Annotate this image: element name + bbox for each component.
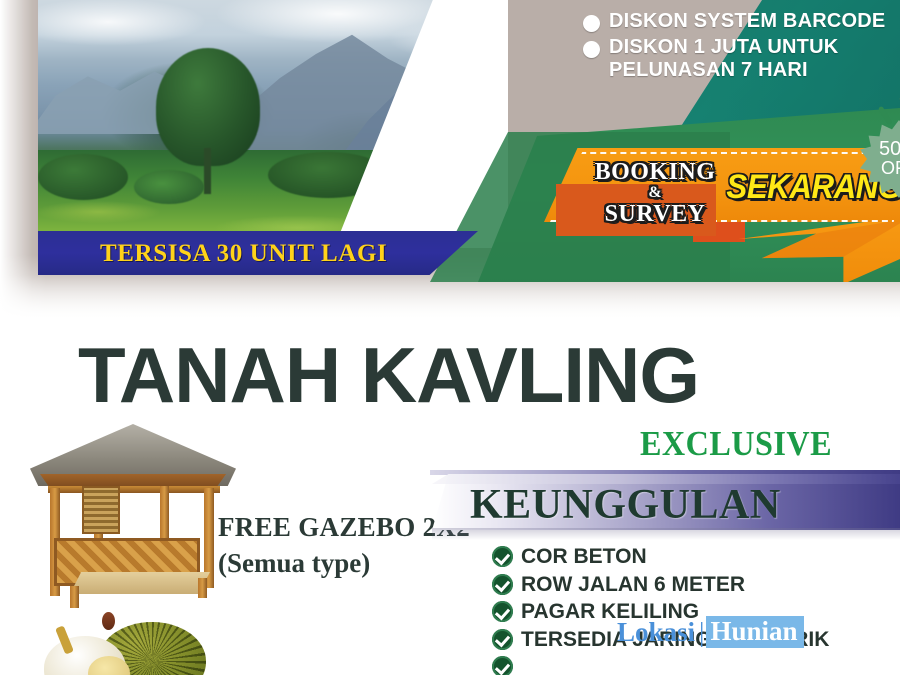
gazebo-type-note: (Semua type) <box>218 548 370 579</box>
watermark-part-lokasi: Lokasi <box>617 617 697 648</box>
booking-survey-text: BOOKING & SURVEY <box>590 160 720 226</box>
bullet-dot-icon <box>583 15 600 32</box>
top-banner: DISKON SYSTEM BARCODE DISKON 1 JUTA UNTU… <box>38 0 900 282</box>
flyer-canvas: DISKON SYSTEM BARCODE DISKON 1 JUTA UNTU… <box>0 0 900 675</box>
gazebo-lattice-panel <box>82 486 120 534</box>
promo-bullet-text: DISKON 1 JUTA UNTUK PELUNASAN 7 HARI <box>609 36 838 81</box>
promo-bullet-item: DISKON 1 JUTA UNTUK PELUNASAN 7 HARI <box>583 36 900 81</box>
durian-seed <box>102 612 115 630</box>
check-circle-icon <box>492 601 513 622</box>
promo-bullet-line-b: PELUNASAN 7 HARI <box>609 59 808 81</box>
ampersand-label: & <box>590 185 720 201</box>
photo-main-tree <box>156 48 260 166</box>
check-circle-icon <box>492 629 513 650</box>
promo-bullet-line-a: DISKON 1 JUTA UNTUK <box>609 36 838 58</box>
gazebo-top-beam <box>48 486 220 493</box>
promo-bullet-list: DISKON SYSTEM BARCODE DISKON 1 JUTA UNTU… <box>583 10 900 85</box>
check-circle-icon <box>492 546 513 567</box>
gazebo-floor <box>70 572 210 594</box>
list-item: COR BETON <box>492 546 900 567</box>
watermark-part-hunian: Hunian <box>706 616 803 648</box>
advantage-label: ROW JALAN 6 METER <box>521 574 745 595</box>
promo-bullet-item: DISKON SYSTEM BARCODE <box>583 10 900 32</box>
headline-subtitle: EXCLUSIVE <box>640 424 832 464</box>
survey-label: SURVEY <box>590 202 720 226</box>
discount-off-label: OFF <box>881 159 900 179</box>
gazebo-illustration <box>28 418 238 603</box>
durian-illustration <box>10 612 210 675</box>
promo-bullet-text: DISKON SYSTEM BARCODE <box>609 10 885 32</box>
list-item: ROW JALAN 6 METER <box>492 574 900 595</box>
watermark-separator: | <box>697 619 706 646</box>
check-circle-icon <box>492 656 513 675</box>
advantages-title: KEUNGGULAN <box>470 481 781 529</box>
gazebo-post-mid-right <box>160 486 169 544</box>
booking-label: BOOKING <box>590 160 720 184</box>
discount-percent: 50% <box>879 139 900 159</box>
advantage-label: COR BETON <box>521 546 647 567</box>
advantages-list: COR BETON ROW JALAN 6 METER PAGAR KELILI… <box>492 546 900 675</box>
gazebo-leg-back <box>198 578 207 598</box>
advantages-header-shadow <box>432 528 900 540</box>
page-title: TANAH KAVLING <box>78 336 699 414</box>
stock-ribbon-text: TERSISA 30 UNIT LAGI <box>100 240 480 268</box>
bullet-dot-icon <box>583 41 600 58</box>
list-item-partial <box>492 656 900 675</box>
landscape-photo <box>38 0 508 248</box>
watermark: Lokasi | Hunian <box>617 616 804 648</box>
check-circle-icon <box>492 574 513 595</box>
gazebo-leg-front <box>70 586 79 608</box>
